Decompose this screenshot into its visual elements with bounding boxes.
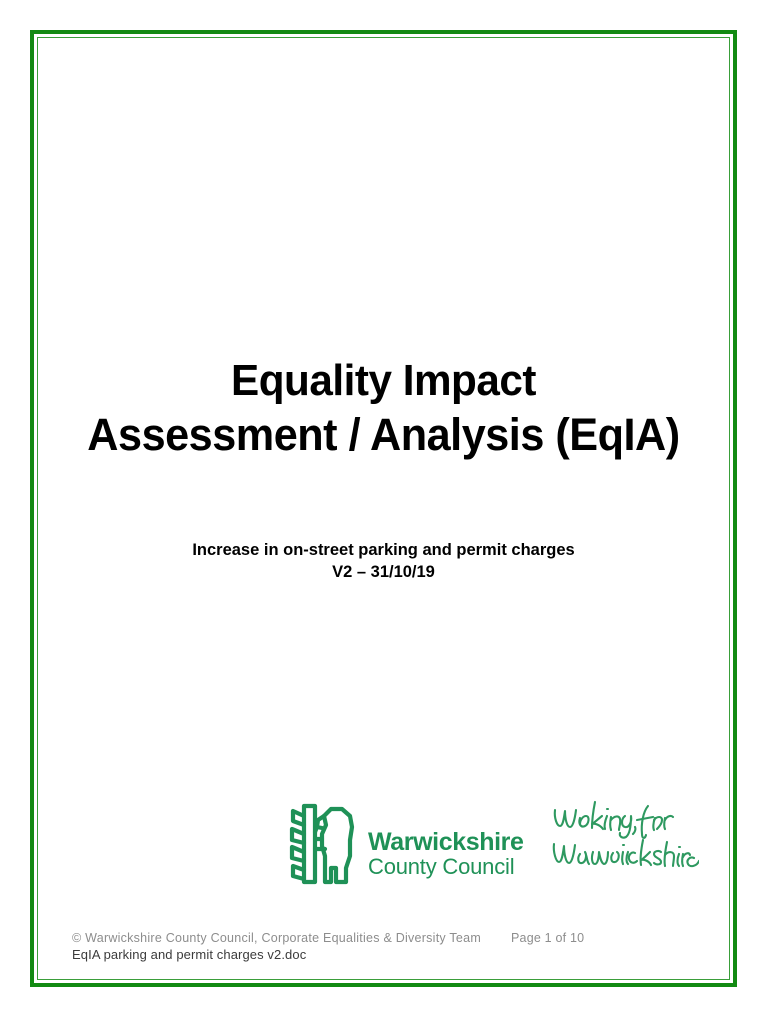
page-footer: © Warwickshire County Council, Corporate… xyxy=(72,931,695,973)
working-for-warwickshire-handwriting-icon xyxy=(549,796,699,880)
footer-copyright: © Warwickshire County Council, Corporate… xyxy=(72,931,481,945)
warwickshire-county-council-logo: Warwickshire County Council xyxy=(284,794,523,888)
footer-top-line: © Warwickshire County Council, Corporate… xyxy=(72,931,695,945)
page-title-line-1: Equality Impact xyxy=(231,356,536,405)
page-title: Equality Impact Assessment / Analysis (E… xyxy=(48,354,719,462)
wcc-wordmark: Warwickshire County Council xyxy=(368,829,523,879)
document-page: Equality Impact Assessment / Analysis (E… xyxy=(30,30,737,987)
wcc-organisation-name: Warwickshire xyxy=(368,829,523,855)
subtitle-block: Increase in on-street parking and permit… xyxy=(34,539,733,583)
wcc-organisation-sub: County Council xyxy=(368,855,523,879)
footer-page-number: Page 1 of 10 xyxy=(511,931,584,945)
page-title-line-2: Assessment / Analysis (EqIA) xyxy=(48,408,719,462)
document-subtitle: Increase in on-street parking and permit… xyxy=(34,539,733,561)
page-content: Equality Impact Assessment / Analysis (E… xyxy=(34,34,733,983)
logo-row: Warwickshire County Council xyxy=(34,794,733,904)
document-version: V2 – 31/10/19 xyxy=(34,561,733,583)
working-for-warwickshire-mark xyxy=(549,796,699,885)
title-block: Equality Impact Assessment / Analysis (E… xyxy=(34,354,733,462)
bear-and-ragged-staff-emblem-icon xyxy=(284,794,360,888)
footer-filename: EqIA parking and permit charges v2.doc xyxy=(72,947,695,962)
